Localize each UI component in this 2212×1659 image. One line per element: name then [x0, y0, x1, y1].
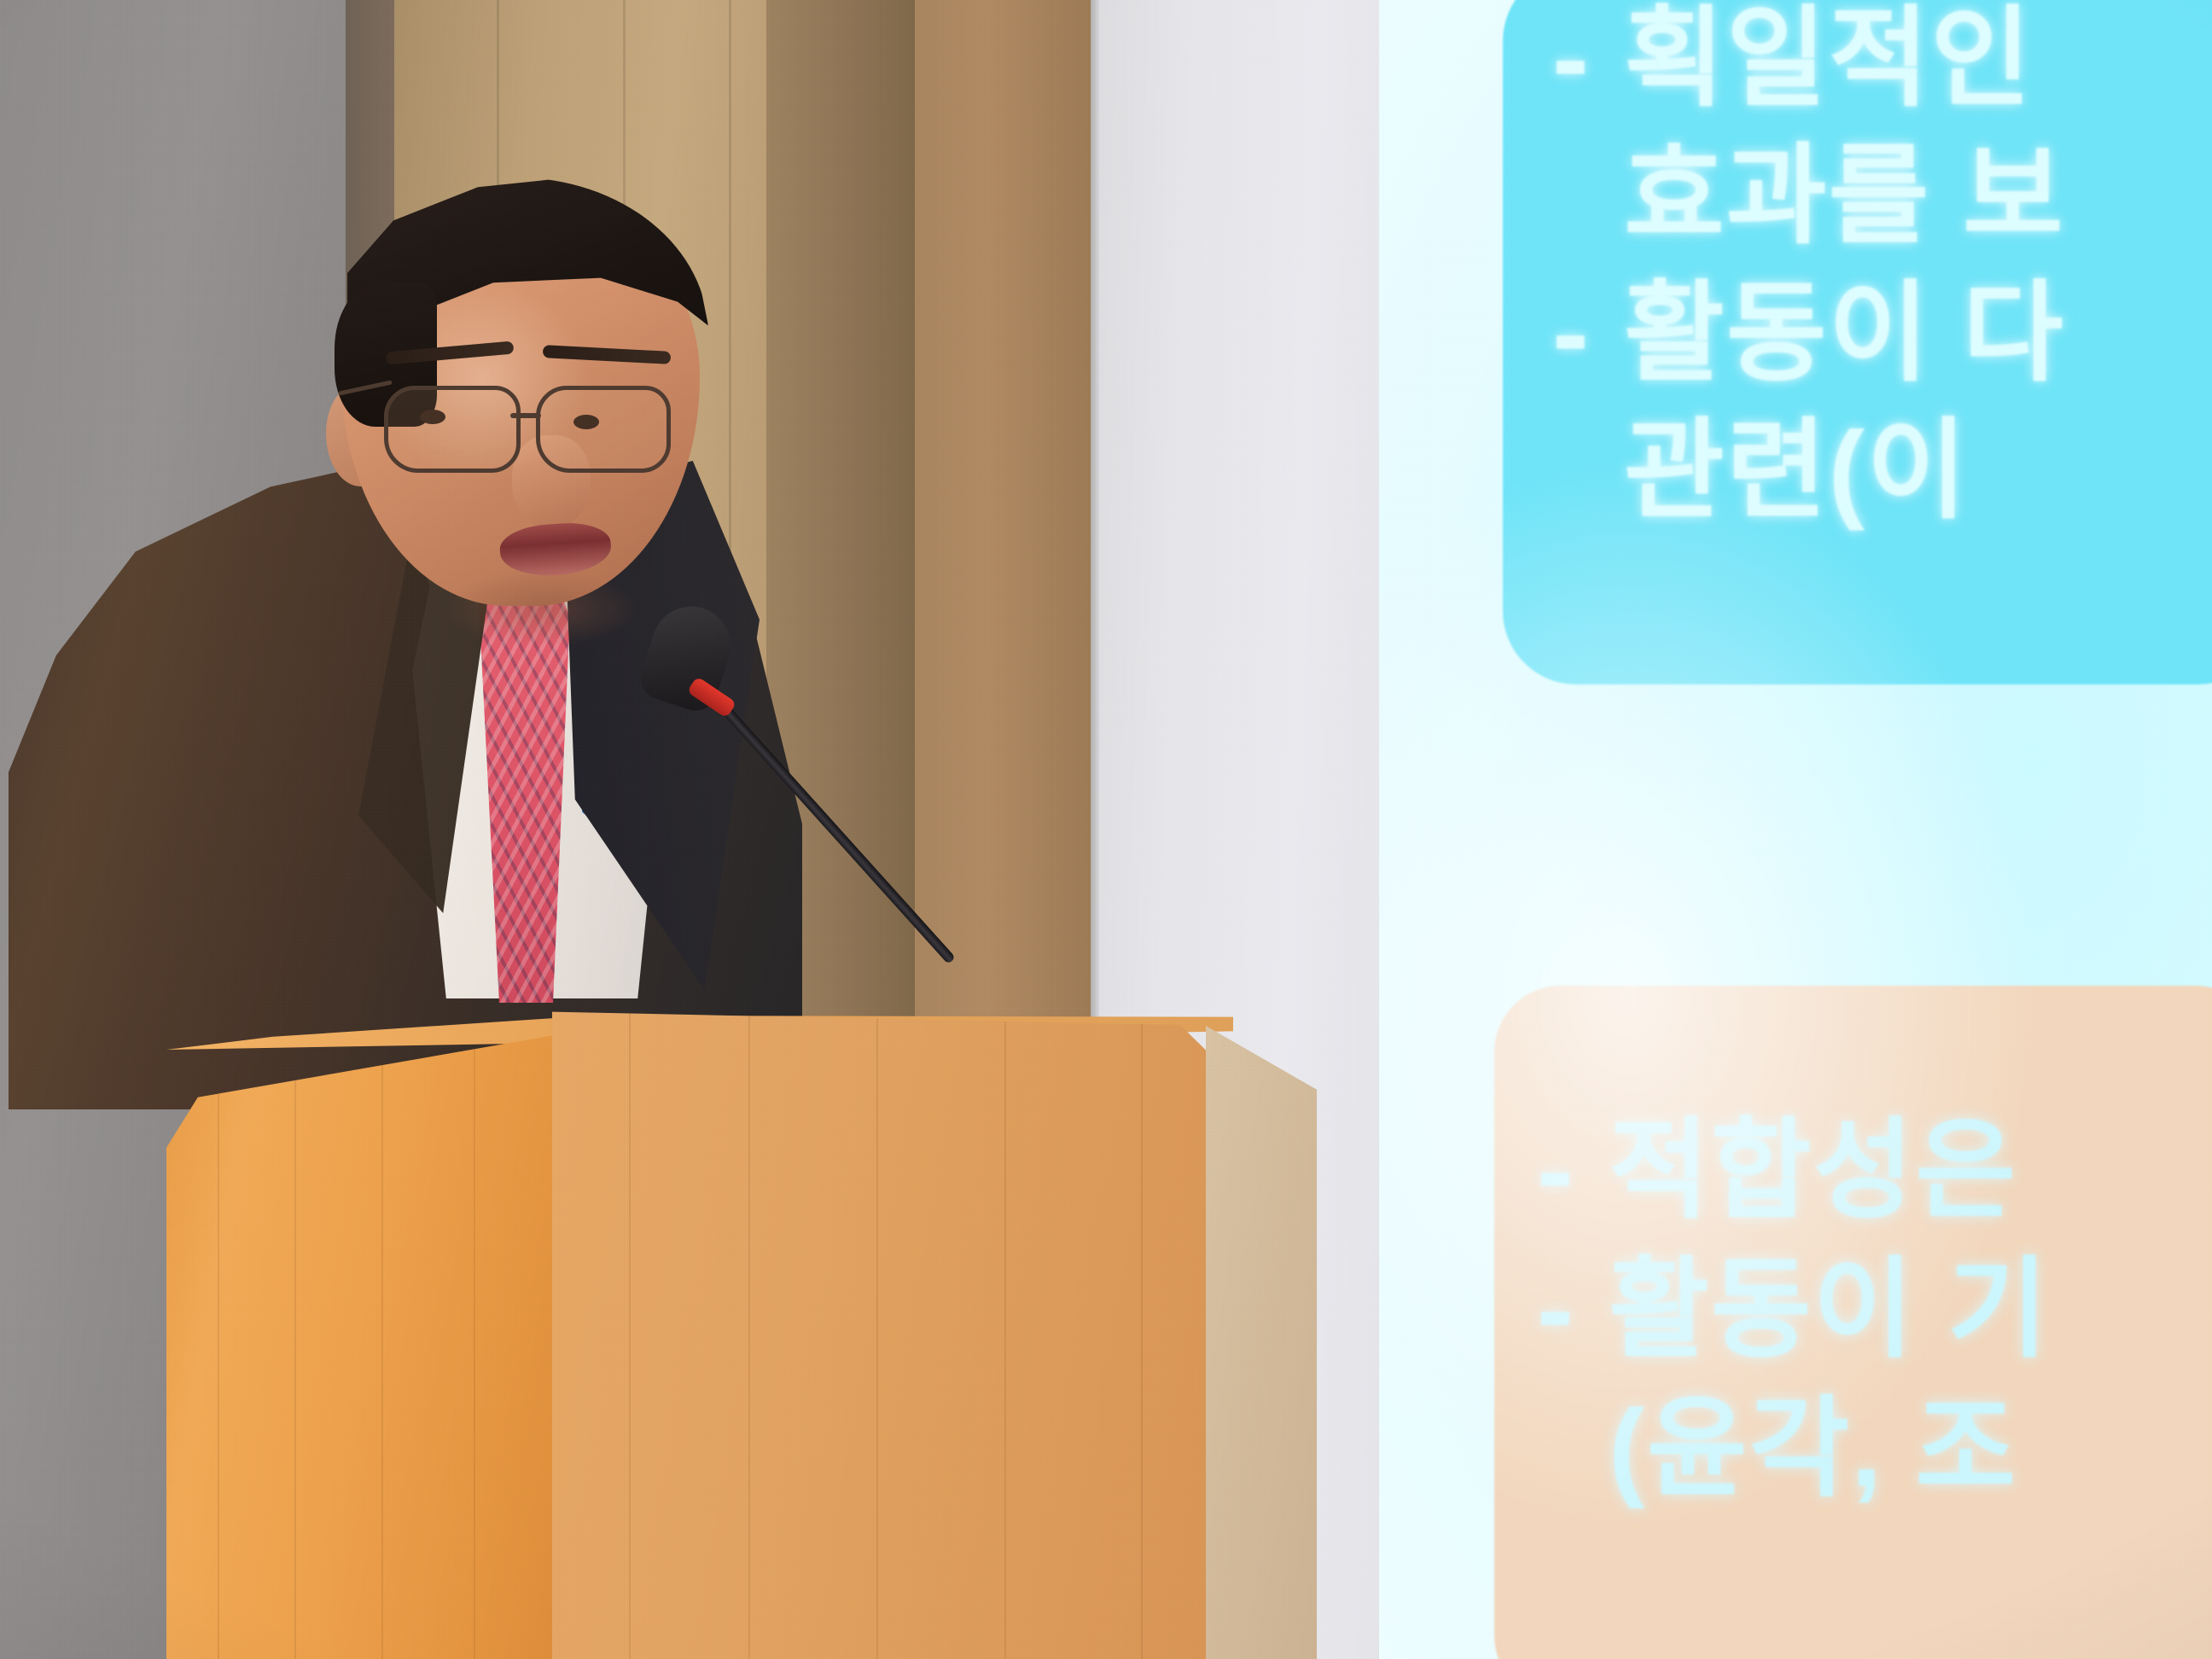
eyeglasses — [369, 372, 693, 483]
slide-line-text: (윤각, 조 — [1609, 1392, 2017, 1505]
photo-scene: - 획일적인 효과를 보 - 활동이 다 관련(이 - 적합성은 - — [0, 0, 2212, 1659]
bullet-dash-icon: - — [1537, 1253, 1609, 1366]
slide-line-text: 효과를 보 — [1624, 139, 2065, 253]
podium-face-right — [552, 998, 1235, 1659]
podium-face-left — [166, 1034, 559, 1659]
eyeglass-lens-left — [384, 386, 521, 473]
microphone — [649, 606, 1092, 1016]
eyeglass-lens-right — [536, 386, 671, 473]
slide-line: (윤각, 조 — [1537, 1392, 2212, 1505]
slide-line: - 획일적인 — [1552, 2, 2212, 115]
slide-line-text: 활동이 기 — [1609, 1253, 2050, 1366]
slide-line: - 활동이 다 — [1552, 276, 2212, 390]
slide-line: 관련(이 — [1552, 414, 2212, 527]
bullet-dash-icon: - — [1537, 1114, 1609, 1227]
projection-screen: - 획일적인 효과를 보 - 활동이 다 관련(이 - 적합성은 - — [1379, 0, 2212, 1659]
podium-face-far — [1206, 1026, 1317, 1659]
slide-callout-box-top: - 획일적인 효과를 보 - 활동이 다 관련(이 — [1503, 0, 2212, 684]
slide-callout-box-bottom: - 적합성은 - 활동이 기 (윤각, 조 — [1494, 986, 2212, 1659]
microphone-gooseneck-stem — [708, 691, 956, 964]
slide-line: - 적합성은 — [1537, 1114, 2212, 1227]
bullet-dash-icon: - — [1552, 276, 1624, 390]
slide-line-text: 관련(이 — [1624, 414, 1969, 527]
eyeglass-bridge — [510, 413, 541, 418]
podium-lectern — [81, 990, 1336, 1659]
slide-line-text: 적합성은 — [1609, 1114, 2017, 1227]
slide-line: - 활동이 기 — [1537, 1253, 2212, 1366]
bullet-dash-icon: - — [1552, 2, 1624, 115]
slide-line: 효과를 보 — [1552, 139, 2212, 253]
slide-line-text: 획일적인 — [1624, 2, 2033, 115]
chin-shadow — [444, 570, 640, 647]
slide-line-text: 활동이 다 — [1624, 276, 2065, 390]
